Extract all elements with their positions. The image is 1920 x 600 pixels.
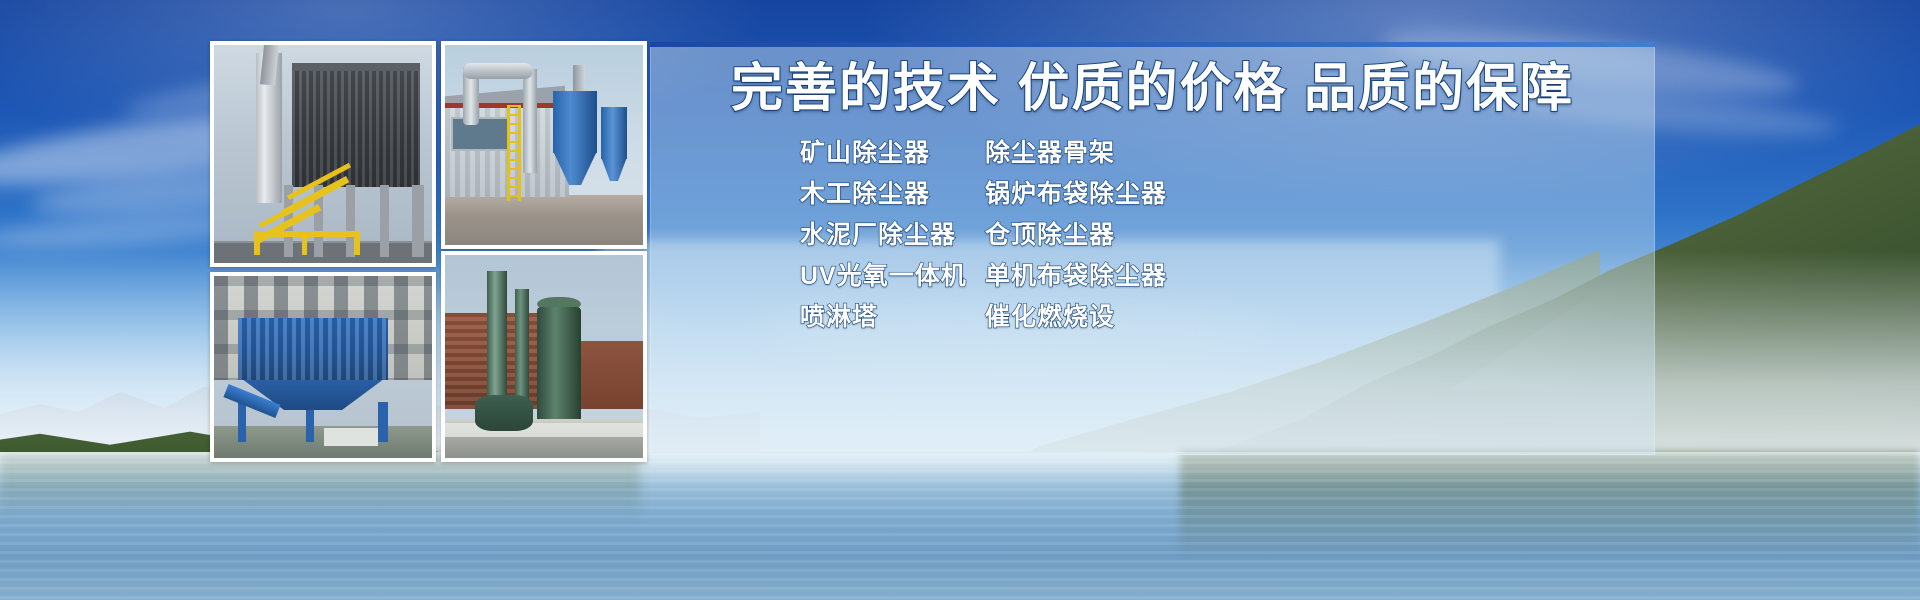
product-name-right: 催化燃烧设 — [985, 297, 1115, 333]
product-row: 矿山除尘器 除尘器骨架 — [800, 130, 1500, 171]
product-name-right: 锅炉布袋除尘器 — [985, 174, 1167, 210]
product-row: 木工除尘器 锅炉布袋除尘器 — [800, 171, 1500, 212]
banner-headline: 完善的技术 优质的价格 品质的保障 — [655, 58, 1650, 120]
product-name-left: 水泥厂除尘器 — [800, 215, 985, 251]
banner-stage: 完善的技术 优质的价格 品质的保障 矿山除尘器 除尘器骨架 木工除尘器 锅炉布袋… — [0, 0, 1920, 600]
product-name-right: 除尘器骨架 — [985, 133, 1115, 169]
product-name-right: 仓顶除尘器 — [985, 215, 1115, 251]
product-row: UV光氧一体机 单机布袋除尘器 — [800, 253, 1500, 294]
product-name-left: 喷淋塔 — [800, 297, 985, 333]
panel-accent-bar — [650, 42, 1655, 47]
product-name-right: 单机布袋除尘器 — [985, 256, 1167, 292]
product-name-left: 矿山除尘器 — [800, 133, 985, 169]
product-row: 喷淋塔 催化燃烧设 — [800, 294, 1500, 335]
photo-blue-dust-collector-building — [210, 272, 436, 462]
photo-workshop-silo-ducting — [441, 41, 647, 249]
photo-mine-baghouse-dust-collector — [210, 41, 436, 267]
product-name-left: UV光氧一体机 — [800, 256, 985, 292]
photo-brick-plant-scrubber-stack — [441, 251, 647, 462]
lake-sheen — [0, 452, 1920, 600]
product-list: 矿山除尘器 除尘器骨架 木工除尘器 锅炉布袋除尘器 水泥厂除尘器 仓顶除尘器 U… — [800, 130, 1500, 335]
product-row: 水泥厂除尘器 仓顶除尘器 — [800, 212, 1500, 253]
product-name-left: 木工除尘器 — [800, 174, 985, 210]
